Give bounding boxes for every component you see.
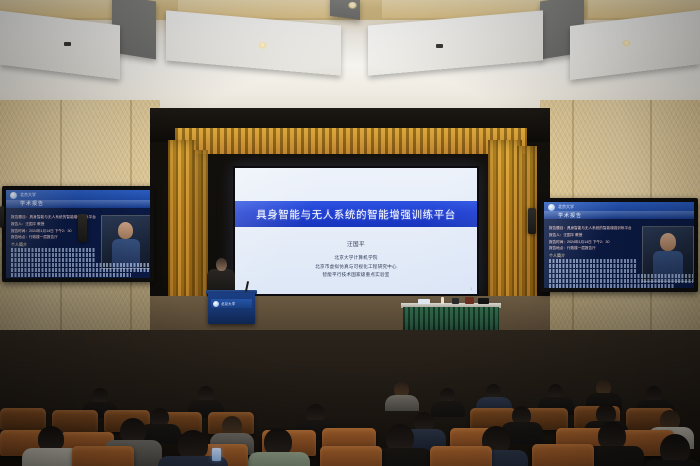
portrait-face <box>660 233 676 251</box>
slide-title: 具身智能与无人系统的智能增强训练平台 <box>256 207 456 222</box>
slide-speaker-name: 汪国平 <box>347 240 365 248</box>
table-paper <box>418 299 430 304</box>
monitor-portrait <box>101 215 150 269</box>
monitor-field-list-right: 报告题目：具身智能与无人系统的智能增强训练平台 报告人：汪国平 教授 报告时间：… <box>549 225 639 252</box>
monitor-bio-text <box>11 258 95 262</box>
seat <box>72 446 134 466</box>
acoustic-panel <box>368 10 543 75</box>
presentation-slide: 具身智能与无人系统的智能增强训练平台 汪国平 北京大学计算机学院 北京市虚拟仿真… <box>235 168 477 294</box>
presenter-head <box>216 258 227 271</box>
monitor-field: 报告人：汪国平 教授 <box>549 232 639 239</box>
audience-shoulders <box>385 395 419 411</box>
seat <box>320 446 382 466</box>
ceiling-speaker-icon <box>436 44 443 48</box>
audience-shoulders <box>248 452 310 466</box>
monitor-field: 报告地点：行政楼一层报告厅 <box>549 245 639 252</box>
portrait-face <box>118 222 133 239</box>
acoustic-panel <box>166 10 341 75</box>
seat <box>0 408 46 430</box>
slide-page-number: 1 <box>470 287 472 291</box>
ceiling-speaker-icon <box>64 42 71 46</box>
podium-plaque-text: 北京大学 <box>221 301 235 306</box>
monitor-seal-icon <box>10 192 17 199</box>
table-item <box>452 298 459 304</box>
monitor-field: 报告时间：2024年1月14日 下午2：30 <box>549 239 639 246</box>
curtain-valance <box>175 128 527 154</box>
table-laptop <box>478 298 489 304</box>
monitor-bio-text <box>11 263 149 267</box>
monitor-bio-text <box>549 269 637 273</box>
monitor-bio-text <box>11 273 131 277</box>
wall-speaker-left <box>78 214 87 242</box>
slide-body: 汪国平 北京大学计算机学院 北京市虚拟仿真与可视化工程研究中心 智能平行技术国家… <box>235 232 477 294</box>
wall-speaker-far-left <box>0 206 4 228</box>
monitor-org-label: 北京大学 <box>558 204 574 210</box>
monitor-bio-text <box>549 259 637 263</box>
phone-screen-icon[interactable] <box>212 448 221 461</box>
seat <box>430 446 492 466</box>
slide-affiliations: 北京大学计算机学院 北京市虚拟仿真与可视化工程研究中心 智能平行技术国家级重点实… <box>315 255 397 278</box>
monitor-bio-text <box>549 274 693 278</box>
ceiling-downlight <box>622 40 631 47</box>
acoustic-panel <box>0 11 120 80</box>
monitor-field: 报告题目：具身智能与无人系统的智能增强训练平台 <box>549 225 639 232</box>
monitor-seal-icon <box>548 204 555 211</box>
auditorium-scene: 具身智能与无人系统的智能增强训练平台 汪国平 北京大学计算机学院 北京市虚拟仿真… <box>0 0 700 466</box>
monitor-bio-text <box>549 279 693 283</box>
audience-house <box>0 330 700 466</box>
ceiling-downlight <box>348 2 357 9</box>
ceiling-downlight <box>258 42 267 49</box>
affiliation-line: 北京大学计算机学院 <box>334 255 377 261</box>
acoustic-panel <box>570 10 700 80</box>
monitor-bio-text <box>11 268 149 272</box>
monitor-bio-text <box>549 284 675 288</box>
monitor-bio-text <box>11 248 95 252</box>
main-projection-screen[interactable]: 具身智能与无人系统的智能增强训练平台 汪国平 北京大学计算机学院 北京市虚拟仿真… <box>233 166 479 296</box>
monitor-org-label: 北京大学 <box>20 192 36 198</box>
table-cup <box>441 297 444 304</box>
side-monitor-right[interactable]: 北京大学 学术报告 报告题目：具身智能与无人系统的智能增强训练平台 报告人：汪国… <box>540 198 698 292</box>
monitor-header-title: 学术报告 <box>20 200 44 207</box>
affiliation-line: 北京市虚拟仿真与可视化工程研究中心 <box>315 264 397 270</box>
podium-plaque: 北京大学 <box>211 299 252 308</box>
university-seal-icon <box>213 301 219 307</box>
monitor-screen-right: 北京大学 学术报告 报告题目：具身智能与无人系统的智能增强训练平台 报告人：汪国… <box>544 202 694 288</box>
audience-shoulders <box>644 460 700 466</box>
affiliation-line: 智能平行技术国家级重点实验室 <box>322 272 389 278</box>
table-book <box>465 297 474 304</box>
stage-table-skirt <box>403 307 499 332</box>
slide-title-bar: 具身智能与无人系统的智能增强训练平台 <box>235 201 477 227</box>
monitor-bio-text <box>549 264 637 268</box>
monitor-bio-text <box>11 253 95 257</box>
audience-shoulders <box>431 401 465 417</box>
seat <box>532 444 594 466</box>
wall-speaker-right <box>528 208 536 234</box>
monitor-header-title: 学术报告 <box>558 212 582 219</box>
podium <box>208 293 255 324</box>
